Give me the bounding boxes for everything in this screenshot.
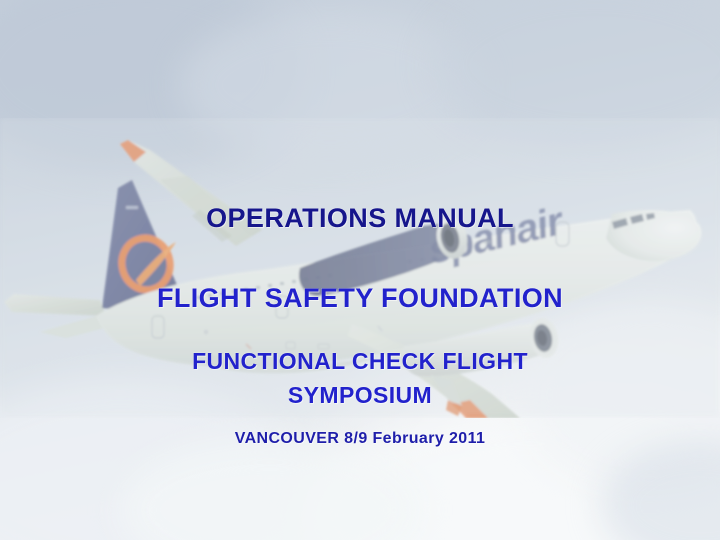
- title-slide: spanair: [0, 0, 720, 540]
- slide-heading-operations-manual: OPERATIONS MANUAL: [0, 203, 720, 234]
- slide-heading-functional-check-flight: FUNCTIONAL CHECK FLIGHT: [0, 348, 720, 375]
- slide-event-date-location: VANCOUVER 8/9 February 2011: [0, 430, 720, 448]
- slide-heading-symposium: SYMPOSIUM: [0, 382, 720, 409]
- slide-text-layer: OPERATIONS MANUAL FLIGHT SAFETY FOUNDATI…: [0, 0, 720, 540]
- slide-heading-flight-safety-foundation: FLIGHT SAFETY FOUNDATION: [0, 283, 720, 314]
